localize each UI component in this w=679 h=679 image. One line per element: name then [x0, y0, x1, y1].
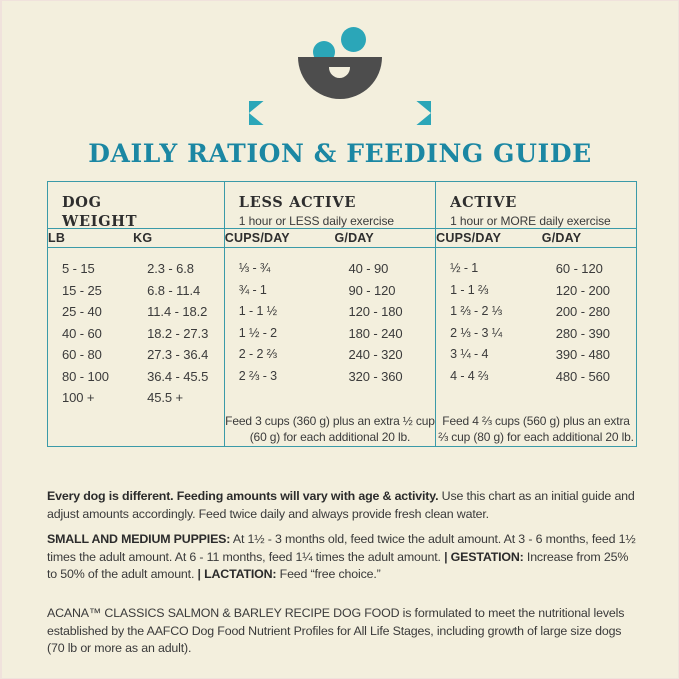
text-lactation: Feed “free choice.” [276, 567, 380, 581]
column-header-kg: KG [133, 229, 224, 248]
feeding-chart: DOG WEIGHT LESS ACTIVE 1 hour or LESS da… [47, 181, 637, 447]
label-lactation: LACTATION: [204, 567, 276, 581]
column-less-active-cups-values: ⅓ - ¾ ¾ - 1 1 - 1 ½ 1 ½ - 2 2 - 2 ⅔ 2 ⅔ … [224, 248, 334, 413]
group-subtitle: 1 hour or MORE daily exercise [450, 214, 636, 228]
kibble-dot-icon [341, 27, 366, 52]
column-header-less-active-cups: CUPS/DAY [224, 229, 334, 248]
cup-conversion-label: 8 fl. oz cup is 120 g of food [249, 101, 431, 125]
column-kg-values: 2.3 - 6.8 6.8 - 11.4 11.4 - 18.2 18.2 - … [133, 248, 224, 413]
note-paragraph-life-stages: SMALL AND MEDIUM PUPPIES: At 1½ - 3 mont… [47, 531, 639, 584]
table-data-row: 5 - 15 15 - 25 25 - 40 40 - 60 60 - 80 8… [48, 248, 636, 413]
footnote-less-active: Feed 3 cups (360 g) plus an extra ½ cup … [224, 413, 435, 446]
group-subtitle: 1 hour or LESS daily exercise [239, 214, 435, 228]
table-group-header-row: DOG WEIGHT LESS ACTIVE 1 hour or LESS da… [48, 182, 636, 229]
column-active-grams-values: 60 - 120 120 - 200 200 - 280 280 - 390 3… [542, 248, 636, 413]
note-paragraph-aafco: ACANA™ CLASSICS SALMON & BARLEY RECIPE D… [47, 605, 639, 658]
table-column-header-row: LB KG CUPS/DAY G/DAY CUPS/DAY G/DAY [48, 229, 636, 248]
footnote-active: Feed 4 ⅔ cups (560 g) plus an extra ⅔ cu… [436, 413, 636, 446]
feeding-guide-page: 8 fl. oz cup is 120 g of food DAILY RATI… [0, 0, 679, 679]
label-gestation: GESTATION: [451, 550, 524, 564]
ration-table: DOG WEIGHT LESS ACTIVE 1 hour or LESS da… [48, 182, 636, 446]
group-header-less-active: LESS ACTIVE 1 hour or LESS daily exercis… [224, 182, 435, 229]
column-header-active-cups: CUPS/DAY [436, 229, 542, 248]
divider-pipe: | [444, 550, 451, 564]
group-title-line1: DOG [62, 194, 102, 211]
group-title: ACTIVE [450, 193, 636, 212]
label-puppies: SMALL AND MEDIUM PUPPIES: [47, 532, 230, 546]
group-title: LESS ACTIVE [239, 193, 435, 212]
cup-conversion-ribbon: 8 fl. oz cup is 120 g of food [249, 101, 431, 125]
column-header-less-active-grams: G/DAY [334, 229, 435, 248]
column-header-lb: LB [48, 229, 133, 248]
column-lb-values: 5 - 15 15 - 25 25 - 40 40 - 60 60 - 80 8… [48, 248, 133, 413]
group-header-active: ACTIVE 1 hour or MORE daily exercise [436, 182, 636, 229]
column-active-cups-values: ½ - 1 1 - 1 ⅔ 1 ⅔ - 2 ⅓ 2 ⅓ - 3 ¼ 3 ¼ - … [436, 248, 542, 413]
feeding-notes: Every dog is different. Feeding amounts … [47, 488, 639, 658]
note-paragraph-general: Every dog is different. Feeding amounts … [47, 488, 639, 523]
bowl-shape [298, 57, 382, 99]
page-title: DAILY RATION & FEEDING GUIDE [2, 139, 678, 168]
group-header-dog-weight: DOG WEIGHT [48, 182, 224, 229]
column-less-active-grams-values: 40 - 90 90 - 120 120 - 180 180 - 240 240… [334, 248, 435, 413]
dog-food-bowl-icon [2, 19, 678, 91]
footnote-spacer [48, 413, 224, 446]
group-title-line2: WEIGHT [62, 213, 137, 230]
column-header-active-grams: G/DAY [542, 229, 636, 248]
table-footnote-row: Feed 3 cups (360 g) plus an extra ½ cup … [48, 413, 636, 446]
note-lead-bold: Every dog is different. Feeding amounts … [47, 489, 438, 503]
